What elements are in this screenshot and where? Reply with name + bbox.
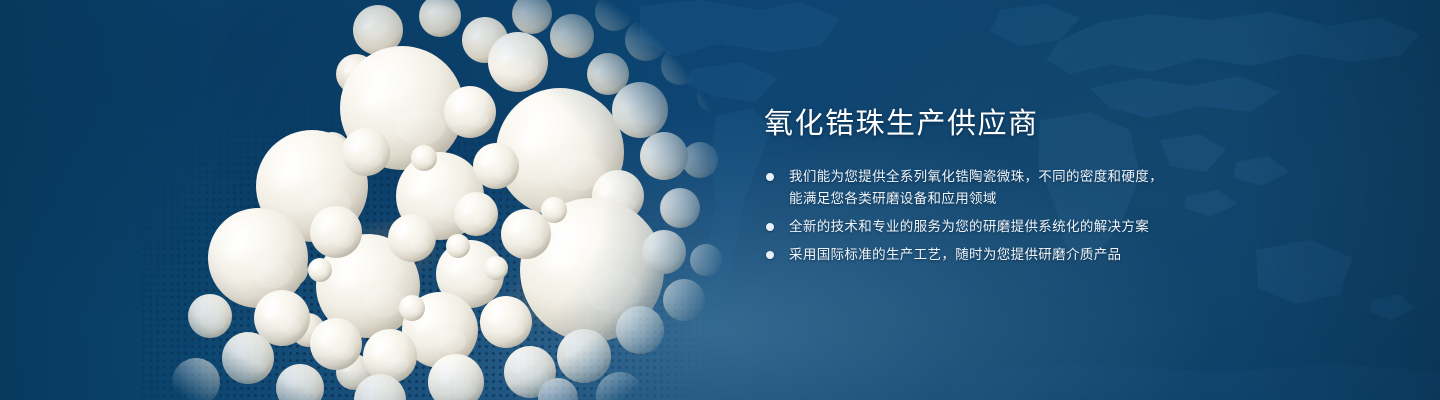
list-item: 我们能为您提供全系列氧化锆陶瓷微珠，不同的密度和硬度， 能满足您各类研磨设备和应… xyxy=(764,166,1284,210)
bullet-text-line: 我们能为您提供全系列氧化锆陶瓷微珠，不同的密度和硬度， xyxy=(789,166,1284,188)
bullet-text-line: 能满足您各类研磨设备和应用领域 xyxy=(789,188,1284,210)
bullet-text-line: 采用国际标准的生产工艺，随时为您提供研磨介质产品 xyxy=(789,244,1284,266)
bullet-dot-icon xyxy=(766,173,774,181)
bullet-text-line: 全新的技术和专业的服务为您的研磨提供系统化的解决方案 xyxy=(789,216,1284,238)
bullet-dot-icon xyxy=(766,223,774,231)
banner-headline: 氧化锆珠生产供应商 xyxy=(764,104,1284,144)
banner-text-block: 氧化锆珠生产供应商 我们能为您提供全系列氧化锆陶瓷微珠，不同的密度和硬度， 能满… xyxy=(764,104,1284,266)
bullet-dot-icon xyxy=(766,251,774,259)
list-item: 全新的技术和专业的服务为您的研磨提供系统化的解决方案 xyxy=(764,216,1284,238)
hero-banner: 氧化锆珠生产供应商 我们能为您提供全系列氧化锆陶瓷微珠，不同的密度和硬度， 能满… xyxy=(0,0,1440,400)
banner-feature-list: 我们能为您提供全系列氧化锆陶瓷微珠，不同的密度和硬度， 能满足您各类研磨设备和应… xyxy=(764,166,1284,266)
list-item: 采用国际标准的生产工艺，随时为您提供研磨介质产品 xyxy=(764,244,1284,266)
